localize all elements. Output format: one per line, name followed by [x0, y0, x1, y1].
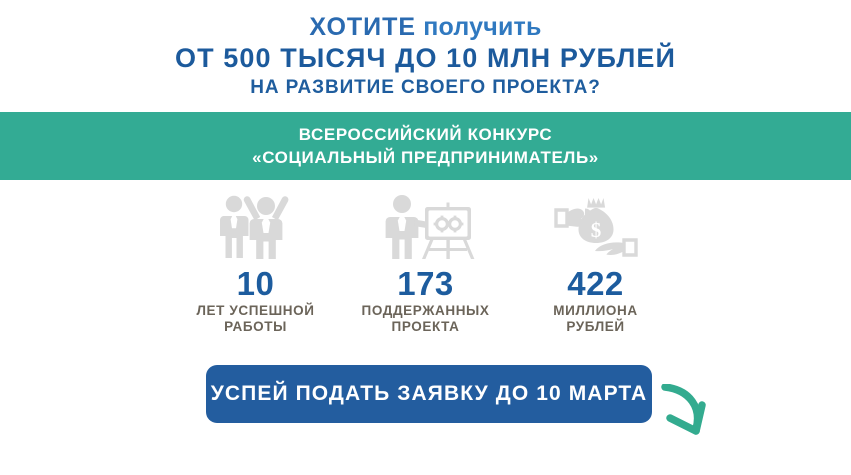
- stat-label-line-1: ЛЕТ УСПЕШНОЙ: [196, 303, 314, 318]
- stat-label: МИЛЛИОНА РУБЛЕЙ: [553, 303, 637, 335]
- headline-line-2: ОТ 500 ТЫСЯЧ ДО 10 МЛН РУБЛЕЙ: [0, 42, 851, 75]
- apply-now-button[interactable]: УСПЕЙ ПОДАТЬ ЗАЯВКУ ДО 10 МАРТА: [206, 365, 652, 423]
- stat-millions-roubles: $ 422 МИЛЛИОНА РУБЛЕЙ: [511, 192, 681, 335]
- stat-label-line-1: ПОДДЕРЖАННЫХ: [362, 303, 490, 318]
- stat-number: 173: [397, 266, 454, 302]
- svg-text:$: $: [590, 218, 601, 242]
- banner-line-1: ВСЕРОССИЙСКИЙ КОНКУРС: [299, 123, 552, 146]
- stat-label-line-2: РУБЛЕЙ: [566, 319, 624, 334]
- headline-line-1-rest: получить: [423, 13, 541, 41]
- presenter-at-easel-icon: [374, 192, 478, 260]
- stat-number: 10: [237, 266, 275, 302]
- curved-arrow-down-left-icon: [656, 384, 732, 458]
- banner-line-2: «СОЦИАЛЬНЫЙ ПРЕДПРИНИМАТЕЛЬ»: [252, 146, 599, 169]
- stat-label-line-1: МИЛЛИОНА: [553, 303, 637, 318]
- stat-number: 422: [567, 266, 624, 302]
- stat-supported-projects: 173 ПОДДЕРЖАННЫХ ПРОЕКТА: [341, 192, 511, 335]
- stat-label-line-2: ПРОЕКТА: [392, 319, 460, 334]
- stat-label: ЛЕТ УСПЕШНОЙ РАБОТЫ: [196, 303, 314, 335]
- two-people-celebrating-icon: [208, 192, 304, 260]
- stat-years-of-work: 10 ЛЕТ УСПЕШНОЙ РАБОТЫ: [171, 192, 341, 335]
- headline-line-3: НА РАЗВИТИЕ СВОЕГО ПРОЕКТА?: [0, 75, 851, 101]
- headline-line-1: ХОТИТЕ получить: [0, 12, 851, 42]
- hand-giving-money-bag-icon: $: [548, 192, 644, 260]
- headline-block: ХОТИТЕ получить ОТ 500 ТЫСЯЧ ДО 10 МЛН Р…: [0, 0, 851, 112]
- statistics-row: 10 ЛЕТ УСПЕШНОЙ РАБОТЫ: [0, 192, 851, 342]
- contest-banner: ВСЕРОССИЙСКИЙ КОНКУРС «СОЦИАЛЬНЫЙ ПРЕДПР…: [0, 112, 851, 180]
- stat-label: ПОДДЕРЖАННЫХ ПРОЕКТА: [362, 303, 490, 335]
- cta-section: УСПЕЙ ПОДАТЬ ЗАЯВКУ ДО 10 МАРТА: [0, 360, 851, 475]
- stat-label-line-2: РАБОТЫ: [224, 319, 287, 334]
- headline-emphasis: ХОТИТЕ: [309, 13, 416, 41]
